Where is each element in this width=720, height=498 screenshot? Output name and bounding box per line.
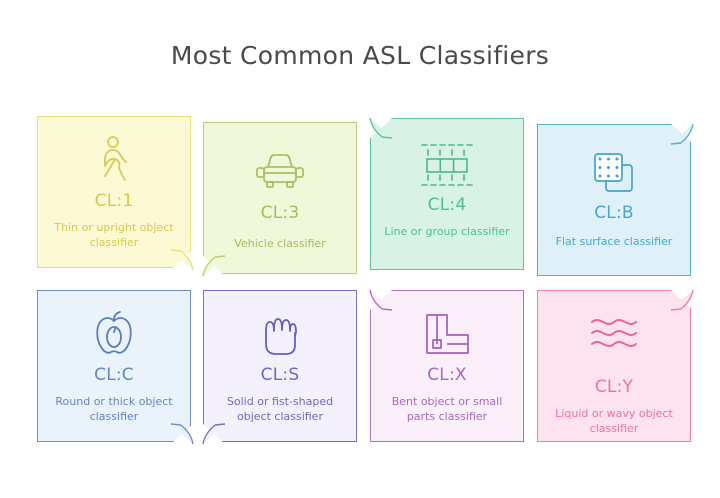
folded-corner-shape bbox=[170, 423, 194, 445]
folded-corner-bottom-right bbox=[170, 423, 192, 443]
folded-corner-shape bbox=[670, 123, 694, 145]
classifier-code: CL:B bbox=[594, 205, 634, 222]
classifier-description: Thin or upright object classifier bbox=[51, 220, 177, 250]
classifier-description: Solid or fist-shaped object classifier bbox=[217, 394, 343, 424]
classifier-code: CL:Y bbox=[595, 379, 633, 396]
folded-corner-shape bbox=[170, 249, 194, 271]
classifier-code: CL:C bbox=[94, 367, 134, 384]
folded-corner-shape bbox=[369, 289, 393, 311]
classifier-card-cl1[interactable]: CL:1Thin or upright object classifier bbox=[37, 116, 191, 268]
classifier-description: Line or group classifier bbox=[384, 224, 510, 239]
apple-icon bbox=[92, 311, 136, 359]
folded-corner-shape bbox=[670, 289, 694, 311]
wavy-lines-icon bbox=[588, 317, 640, 357]
walking-person-icon bbox=[94, 135, 134, 187]
classifier-description: Liquid or wavy object classifier bbox=[551, 406, 677, 436]
overlapping-squares-icon-wrap bbox=[590, 147, 638, 199]
folded-corner-top-left bbox=[369, 117, 391, 137]
apple-icon-wrap bbox=[92, 309, 136, 361]
classifier-card-grid: CL:1Thin or upright object classifierCL:… bbox=[0, 0, 720, 498]
fist-hand-icon-wrap bbox=[257, 309, 303, 361]
classifier-code: CL:3 bbox=[261, 205, 300, 222]
overlapping-squares-icon bbox=[590, 149, 638, 197]
folded-corner-bottom-left bbox=[202, 423, 224, 443]
classifier-card-cl4[interactable]: CL:4Line or group classifier bbox=[370, 118, 524, 270]
classifier-description: Vehicle classifier bbox=[217, 236, 343, 251]
bent-l-shape-icon-wrap bbox=[421, 309, 473, 361]
walking-person-icon-wrap bbox=[94, 135, 134, 187]
poster-canvas: Most Common ASL Classifiers CL:1Thin or … bbox=[0, 0, 720, 498]
folded-corner-bottom-right bbox=[170, 249, 192, 269]
classifier-card-cly[interactable]: CL:YLiquid or wavy object classifier bbox=[537, 290, 691, 442]
folded-corner-shape bbox=[202, 423, 226, 445]
classifier-description: Flat surface classifier bbox=[551, 234, 677, 249]
classifier-code: CL:S bbox=[261, 367, 300, 384]
car-front-icon bbox=[255, 151, 305, 195]
line-group-boxes-icon-wrap bbox=[418, 139, 476, 191]
classifier-card-cl3[interactable]: CL:3Vehicle classifier bbox=[203, 122, 357, 274]
classifier-card-clb[interactable]: CL:BFlat surface classifier bbox=[537, 124, 691, 276]
folded-corner-top-left bbox=[369, 289, 391, 309]
folded-corner-shape bbox=[369, 117, 393, 139]
folded-corner-shape bbox=[202, 255, 226, 277]
classifier-code: CL:1 bbox=[95, 193, 134, 210]
folded-corner-top-right bbox=[670, 289, 692, 309]
classifier-description: Round or thick object classifier bbox=[51, 394, 177, 424]
line-group-boxes-icon bbox=[418, 141, 476, 189]
bent-l-shape-icon bbox=[421, 311, 473, 359]
classifier-code: CL:4 bbox=[428, 197, 467, 214]
fist-hand-icon bbox=[257, 311, 303, 359]
classifier-card-cls[interactable]: CL:SSolid or fist-shaped object classifi… bbox=[203, 290, 357, 442]
classifier-code: CL:X bbox=[427, 367, 467, 384]
wavy-lines-icon-wrap bbox=[588, 311, 640, 363]
classifier-description: Bent object or small parts classifier bbox=[384, 394, 510, 424]
car-front-icon-wrap bbox=[255, 147, 305, 199]
folded-corner-top-right bbox=[670, 123, 692, 143]
folded-corner-bottom-left bbox=[202, 255, 224, 275]
classifier-card-clx[interactable]: CL:XBent object or small parts classifie… bbox=[370, 290, 524, 442]
classifier-card-clc[interactable]: CL:CRound or thick object classifier bbox=[37, 290, 191, 442]
